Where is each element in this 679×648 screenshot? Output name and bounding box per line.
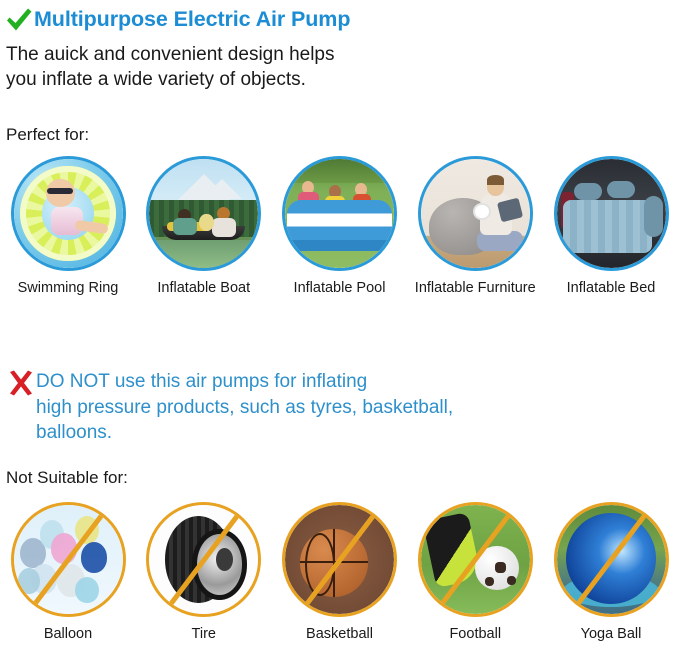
red-x-icon (6, 370, 36, 396)
football-circle (418, 502, 533, 617)
inflatable-furniture-circle (418, 156, 533, 271)
swimming-ring-photo (14, 159, 123, 268)
inflatable-pool-photo (285, 159, 394, 268)
inflatable-bed-circle (554, 156, 669, 271)
inflatable-pool-circle (282, 156, 397, 271)
inflatable-bed-photo (557, 159, 666, 268)
header-block: Multipurpose Electric Air Pump The auick… (0, 0, 679, 92)
item-basketball: Basketball (276, 502, 404, 642)
item-inflatable-boat: Inflatable Boat (140, 156, 268, 296)
item-football: Football (411, 502, 539, 642)
yoga-ball-circle (554, 502, 669, 617)
item-label: Inflatable Boat (157, 280, 250, 296)
item-yoga-ball: Yoga Ball (547, 502, 675, 642)
title-row: Multipurpose Electric Air Pump (0, 0, 679, 36)
item-tire: Tire (140, 502, 268, 642)
inflatable-boat-circle (146, 156, 261, 271)
swimming-ring-circle (11, 156, 126, 271)
inflatable-boat-photo (149, 159, 258, 268)
header-subtitle: The auick and convenient design helps yo… (6, 42, 679, 92)
item-label: Tire (192, 626, 216, 642)
item-label: Inflatable Bed (567, 280, 656, 296)
perfect-for-row: Swimming Ring Inflatable Boat (0, 156, 679, 296)
not-suitable-caption: Not Suitable for: (6, 468, 128, 488)
item-label: Yoga Ball (581, 626, 642, 642)
warning-block: DO NOT use this air pumps for inflating … (0, 368, 679, 446)
item-label: Football (449, 626, 501, 642)
item-label: Basketball (306, 626, 373, 642)
balloon-circle (11, 502, 126, 617)
tire-circle (146, 502, 261, 617)
not-suitable-row: Balloon Tire Basketball (0, 502, 679, 642)
warning-row: DO NOT use this air pumps for inflating … (0, 368, 679, 446)
green-check-icon (4, 7, 34, 33)
item-balloon: Balloon (4, 502, 132, 642)
item-label: Swimming Ring (18, 280, 119, 296)
perfect-for-caption: Perfect for: (6, 125, 89, 145)
item-label: Balloon (44, 626, 92, 642)
basketball-circle (282, 502, 397, 617)
item-label: Inflatable Furniture (415, 280, 536, 296)
page-title: Multipurpose Electric Air Pump (34, 6, 350, 32)
item-inflatable-furniture: Inflatable Furniture (411, 156, 539, 296)
item-inflatable-pool: Inflatable Pool (276, 156, 404, 296)
item-swimming-ring: Swimming Ring (4, 156, 132, 296)
item-inflatable-bed: Inflatable Bed (547, 156, 675, 296)
item-label: Inflatable Pool (294, 280, 386, 296)
inflatable-furniture-photo (421, 159, 530, 268)
warning-text: DO NOT use this air pumps for inflating … (36, 368, 453, 446)
